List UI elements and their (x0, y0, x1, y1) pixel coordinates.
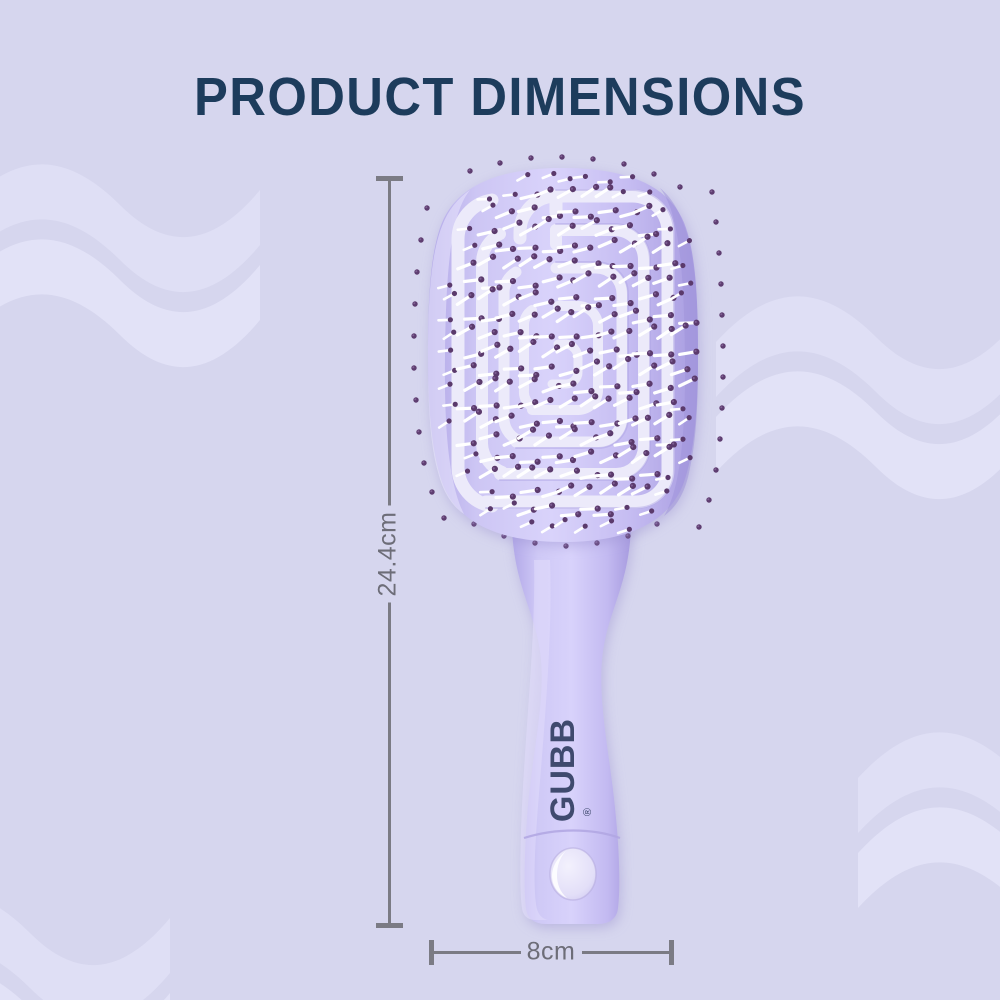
product-illustration: GUBB ® (0, 0, 1000, 1000)
width-tick-right (669, 940, 674, 965)
hair-brush-graphic: GUBB ® (0, 0, 1000, 1000)
height-tick-top (376, 176, 403, 181)
height-tick-bottom (376, 923, 403, 928)
height-label: 24.4cm (372, 506, 405, 603)
svg-text:GUBB: GUBB (544, 718, 582, 822)
width-label: 8cm (527, 938, 576, 967)
width-tick-left (429, 940, 434, 965)
width-dimension-line-right (582, 951, 672, 954)
product-dimensions-image: PRODUCT DIMENSIONS (0, 0, 1000, 1000)
hang-hole (550, 848, 596, 900)
width-dimension-line-left (431, 951, 521, 954)
svg-text:®: ® (582, 808, 594, 816)
